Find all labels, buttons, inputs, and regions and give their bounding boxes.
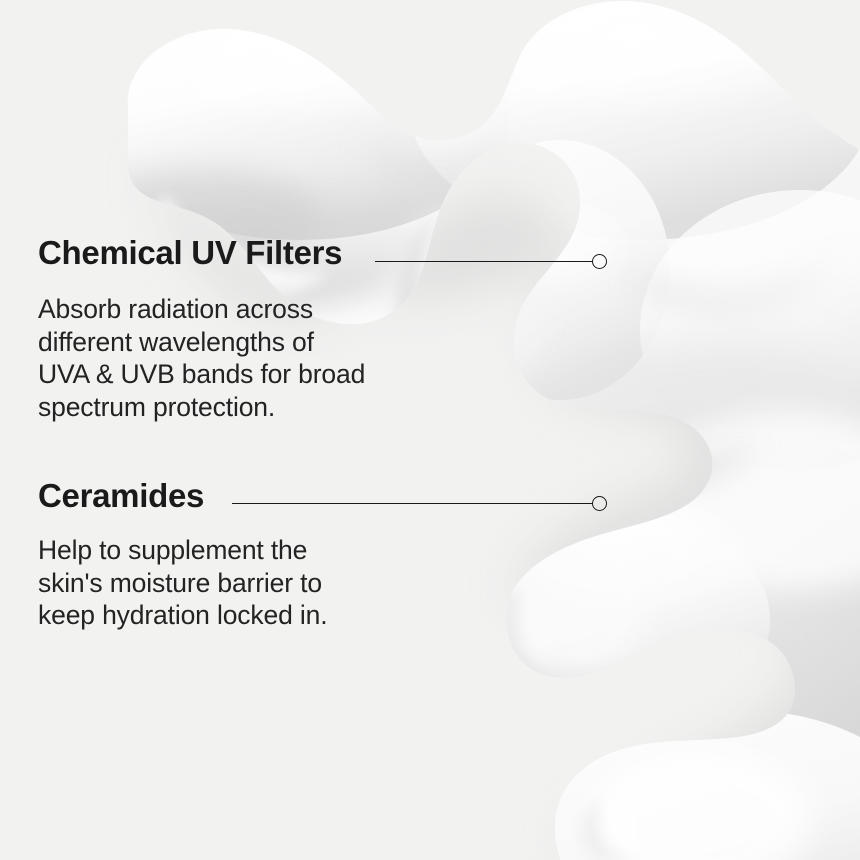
callout-heading-row: Ceramides (38, 476, 438, 516)
callout-ceramides: Ceramides Help to supplement the skin's … (38, 476, 438, 632)
callout-title: Chemical UV Filters (38, 233, 342, 273)
cream-shape (80, 0, 860, 860)
callout-body: Help to supplement the skin's moisture b… (38, 534, 438, 632)
infographic-canvas: Chemical UV Filters Absorb radiation acr… (0, 0, 860, 860)
ring-marker-icon (592, 254, 607, 269)
callout-chemical-uv-filters: Chemical UV Filters Absorb radiation acr… (38, 233, 438, 423)
callout-body: Absorb radiation across different wavele… (38, 293, 438, 423)
callout-title: Ceramides (38, 476, 204, 516)
ring-marker-icon (592, 496, 607, 511)
cream-swirl-artwork (0, 0, 860, 860)
callout-heading-row: Chemical UV Filters (38, 233, 438, 273)
